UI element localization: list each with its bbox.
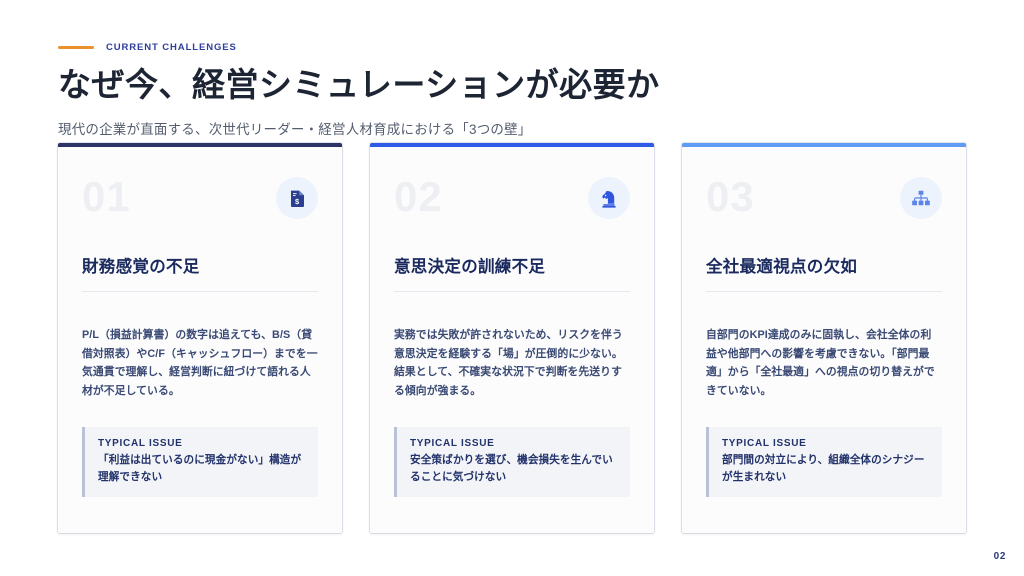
card-divider — [394, 291, 630, 292]
eyebrow-label: CURRENT CHALLENGES — [106, 42, 237, 53]
svg-text:$: $ — [294, 197, 298, 206]
typical-issue-box: TYPICAL ISSUE 安全策ばかりを選び、機会損失を生んでいることに気づけ… — [394, 427, 630, 497]
slide: CURRENT CHALLENGES なぜ今、経営シミュレーションが必要か 現代… — [0, 0, 1024, 576]
card-header: 03 — [706, 177, 942, 235]
challenge-card-01[interactable]: 01 $ 財務感覚の不足 P/L（損益計算書）の数字は追えても、B/ — [58, 143, 342, 533]
card-number: 01 — [82, 177, 131, 217]
eyebrow-row: CURRENT CHALLENGES — [58, 40, 958, 54]
chess-knight-icon — [600, 189, 618, 208]
typical-issue-text: 「利益は出ているのに現金がない」構造が理解できない — [98, 452, 306, 485]
org-chart-icon — [911, 190, 931, 207]
card-body-text: 自部門のKPI達成のみに固執し、会社全体の利益や他部門への影響を考慮できない。「… — [706, 326, 942, 400]
challenge-card-03[interactable]: 03 — [682, 143, 966, 533]
typical-issue-text: 安全策ばかりを選び、機会損失を生んでいることに気づけない — [410, 452, 618, 485]
page-subtitle: 現代の企業が直面する、次世代リーダー・経営人材育成における「3つの壁」 — [58, 118, 958, 138]
card-number: 02 — [394, 177, 443, 217]
card-title: 全社最適視点の欠如 — [706, 253, 942, 277]
accent-dash-icon — [58, 46, 94, 49]
typical-issue-label: TYPICAL ISSUE — [722, 438, 930, 449]
slide-header: CURRENT CHALLENGES なぜ今、経営シミュレーションが必要か 現代… — [58, 40, 958, 138]
card-header: 01 $ — [82, 177, 318, 235]
card-accent-bar — [370, 143, 654, 147]
page-title: なぜ今、経営シミュレーションが必要か — [58, 64, 958, 105]
typical-issue-label: TYPICAL ISSUE — [98, 438, 306, 449]
typical-issue-box: TYPICAL ISSUE 「利益は出ているのに現金がない」構造が理解できない — [82, 427, 318, 497]
card-accent-bar — [58, 143, 342, 147]
financial-document-icon: $ — [289, 189, 306, 208]
card-icon-badge — [900, 177, 942, 219]
card-number: 03 — [706, 177, 755, 217]
card-body-text: P/L（損益計算書）の数字は追えても、B/S（貸借対照表）やC/F（キャッシュフ… — [82, 326, 318, 400]
challenge-card-list: 01 $ 財務感覚の不足 P/L（損益計算書）の数字は追えても、B/ — [58, 143, 966, 533]
typical-issue-label: TYPICAL ISSUE — [410, 438, 618, 449]
card-body-text: 実務では失敗が許されないため、リスクを伴う意思決定を経験する「場」が圧倒的に少な… — [394, 326, 630, 400]
card-title: 財務感覚の不足 — [82, 253, 318, 277]
card-header: 02 — [394, 177, 630, 235]
typical-issue-text: 部門間の対立により、組織全体のシナジーが生まれない — [722, 452, 930, 485]
card-divider — [706, 291, 942, 292]
card-icon-badge: $ — [276, 177, 318, 219]
card-divider — [82, 291, 318, 292]
card-icon-badge — [588, 177, 630, 219]
card-title: 意思決定の訓練不足 — [394, 253, 630, 277]
page-number: 02 — [994, 551, 1006, 562]
challenge-card-02[interactable]: 02 意思決定の訓練不足 実務では失敗が許されないため、リスクを伴う意思決定を経… — [370, 143, 654, 533]
typical-issue-box: TYPICAL ISSUE 部門間の対立により、組織全体のシナジーが生まれない — [706, 427, 942, 497]
card-accent-bar — [682, 143, 966, 147]
